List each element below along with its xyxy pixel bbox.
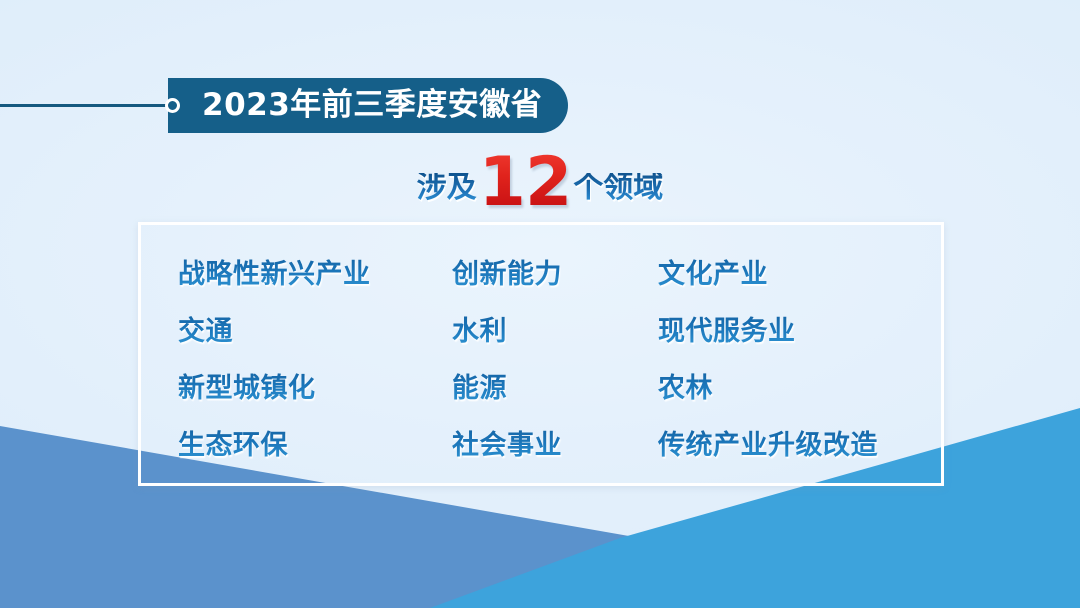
- circle-marker-icon: [165, 98, 180, 113]
- field-item: 水利: [452, 309, 658, 348]
- headline: 涉及12个领域: [0, 143, 1080, 211]
- field-item: 传统产业升级改造: [658, 423, 968, 462]
- headline-prefix: 涉及: [417, 173, 477, 203]
- field-item: 社会事业: [452, 423, 658, 462]
- page-title: 2023年前三季度安徽省: [202, 90, 542, 121]
- field-item: 战略性新兴产业: [178, 252, 452, 291]
- field-item: 交通: [178, 309, 452, 348]
- infographic-canvas: 2023年前三季度安徽省 涉及12个领域 战略性新兴产业 创新能力 文化产业 交…: [0, 0, 1080, 608]
- field-item: 现代服务业: [658, 309, 968, 348]
- title-banner: 2023年前三季度安徽省: [0, 78, 600, 134]
- fields-grid: 战略性新兴产业 创新能力 文化产业 交通 水利 现代服务业 新型城镇化 能源 农…: [178, 243, 968, 471]
- headline-suffix: 个领域: [573, 173, 663, 203]
- field-item: 农林: [658, 366, 968, 405]
- field-item: 生态环保: [178, 423, 452, 462]
- field-item: 文化产业: [658, 252, 968, 291]
- headline-number: 12: [479, 149, 572, 217]
- field-item: 能源: [452, 366, 658, 405]
- field-item: 新型城镇化: [178, 366, 452, 405]
- field-item: 创新能力: [452, 252, 658, 291]
- banner-connector-line: [0, 104, 172, 107]
- banner-pill: 2023年前三季度安徽省: [168, 78, 568, 133]
